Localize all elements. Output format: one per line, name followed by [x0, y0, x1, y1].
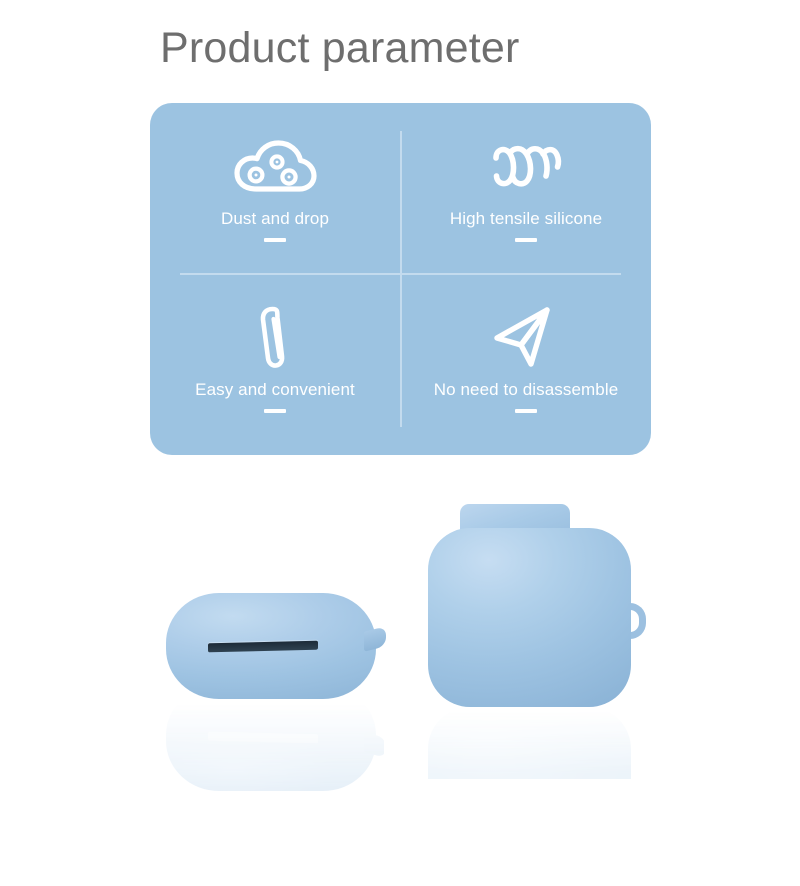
feature-label: No need to disassemble	[434, 380, 619, 400]
feature-easy-and-convenient: Easy and convenient	[150, 274, 400, 450]
earbud-case-side-view-reflection	[166, 699, 384, 791]
feature-underline-dash	[264, 409, 286, 413]
reflection-body	[428, 707, 631, 886]
feature-underline-dash	[515, 409, 537, 413]
paper-plane-icon	[491, 306, 561, 368]
earbud-case-side-view	[166, 593, 384, 699]
feature-no-need-to-disassemble: No need to disassemble	[401, 274, 651, 450]
feature-label: Easy and convenient	[195, 380, 355, 400]
spring-coil-icon	[488, 135, 564, 197]
feature-card: Dust and drop High tensile silicone	[150, 103, 651, 455]
product-photo-stage	[0, 470, 800, 800]
feature-label: High tensile silicone	[450, 209, 602, 229]
earbud-case-front-view	[428, 504, 638, 707]
carabiner-loop-icon	[255, 306, 295, 368]
dust-cloud-icon	[232, 135, 318, 197]
feature-label: Dust and drop	[221, 209, 329, 229]
page-title: Product parameter	[160, 24, 520, 73]
feature-dust-and-drop: Dust and drop	[150, 103, 400, 279]
case-body	[428, 528, 631, 707]
feature-high-tensile-silicone: High tensile silicone	[401, 103, 651, 279]
feature-underline-dash	[515, 238, 537, 242]
earbud-case-front-view-reflection	[428, 707, 638, 779]
feature-underline-dash	[264, 238, 286, 242]
case-hinge-nub	[364, 626, 386, 651]
